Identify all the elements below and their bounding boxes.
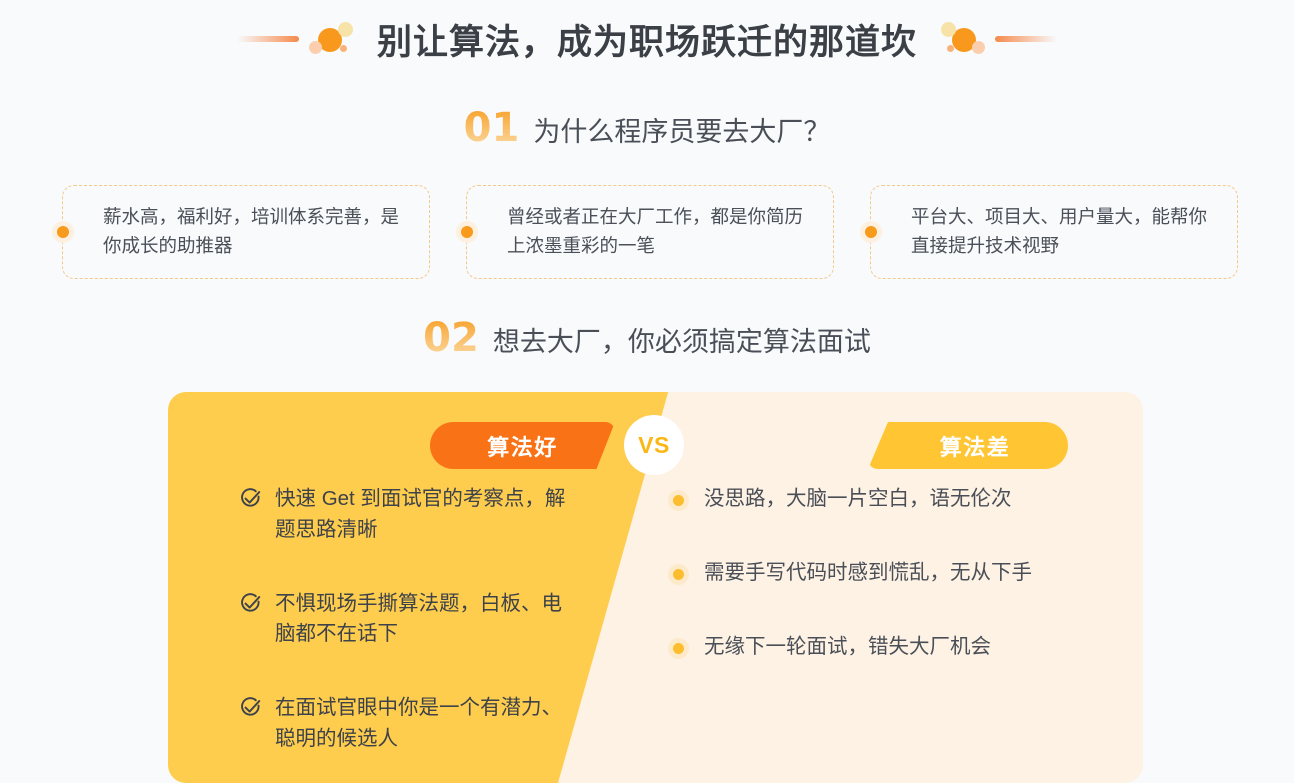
check-circle-icon — [240, 592, 262, 614]
check-circle-icon — [240, 696, 262, 718]
deco-dot-mini-icon — [340, 45, 347, 52]
good-item-text: 在面试官眼中你是一个有潜力、聪明的候选人 — [275, 693, 580, 755]
good-item: 不惧现场手撕算法题，白板、电脑都不在话下 — [240, 589, 580, 651]
reason-card-text: 平台大、项目大、用户量大，能帮你直接提升技术视野 — [911, 203, 1215, 260]
vs-badge: VS — [624, 415, 684, 475]
good-item: 快速 Get 到面试官的考察点，解题思路清晰 — [240, 484, 580, 546]
bullet-dot-icon — [461, 226, 473, 238]
title-decoration-right — [939, 19, 1057, 59]
page-root: 别让算法，成为职场跃迁的那道坎 01 为什么程序员要去大厂？ 薪水高，福利好，培… — [0, 0, 1294, 783]
section-number: 02 — [423, 318, 479, 358]
bad-item-text: 没思路，大脑一片空白，语无伦次 — [704, 484, 1012, 515]
reason-card: 平台大、项目大、用户量大，能帮你直接提升技术视野 — [870, 185, 1238, 279]
page-title: 别让算法，成为职场跃迁的那道坎 — [377, 14, 917, 65]
reason-card: 薪水高，福利好，培训体系完善，是你成长的助推器 — [62, 185, 430, 279]
good-item: 在面试官眼中你是一个有潜力、聪明的候选人 — [240, 693, 580, 755]
good-item-text: 不惧现场手撕算法题，白板、电脑都不在话下 — [275, 589, 580, 651]
deco-dot-pale-icon — [941, 22, 956, 37]
section-01-heading: 01 为什么程序员要去大厂？ — [0, 108, 1294, 149]
bullet-dot-icon — [865, 226, 877, 238]
bad-item-text: 需要手写代码时感到慌乱，无从下手 — [704, 558, 1032, 589]
bad-item: 需要手写代码时感到慌乱，无从下手 — [668, 558, 1068, 589]
section-02-heading: 02 想去大厂，你必须搞定算法面试 — [0, 318, 1294, 359]
deco-dot-peach-icon — [972, 41, 985, 54]
bullet-dot-icon — [673, 569, 684, 580]
comparison-panel: 算法好 VS 算法差 快速 Get 到面试官的考察点，解题思路清晰 不惧现场手撕… — [168, 392, 1143, 783]
deco-dots-icon — [939, 19, 985, 59]
section-title: 为什么程序员要去大厂？ — [533, 110, 830, 149]
good-item-list: 快速 Get 到面试官的考察点，解题思路清晰 不惧现场手撕算法题，白板、电脑都不… — [240, 484, 580, 755]
bullet-dot-icon — [57, 226, 69, 238]
bullet-dot-icon — [673, 643, 684, 654]
section-number: 01 — [464, 108, 520, 148]
bad-item: 没思路，大脑一片空白，语无伦次 — [668, 484, 1068, 515]
badge-bad: 算法差 — [868, 422, 1068, 469]
bad-item-text: 无缘下一轮面试，错失大厂机会 — [704, 632, 991, 663]
deco-dot-pale-icon — [338, 22, 353, 37]
reason-card-text: 曾经或者正在大厂工作，都是你简历上浓墨重彩的一笔 — [507, 203, 811, 260]
deco-dots-icon — [309, 19, 355, 59]
check-circle-icon — [240, 487, 262, 509]
deco-dot-peach-icon — [309, 41, 322, 54]
title-decoration-left — [237, 19, 355, 59]
good-item-text: 快速 Get 到面试官的考察点，解题思路清晰 — [275, 484, 580, 546]
reason-card-list: 薪水高，福利好，培训体系完善，是你成长的助推器 曾经或者正在大厂工作，都是你简历… — [62, 185, 1238, 279]
deco-line-icon — [995, 36, 1057, 42]
reason-card-text: 薪水高，福利好，培训体系完善，是你成长的助推器 — [103, 203, 407, 260]
deco-dot-mini-icon — [947, 45, 954, 52]
bullet-dot-icon — [673, 495, 684, 506]
bad-item-list: 没思路，大脑一片空白，语无伦次 需要手写代码时感到慌乱，无从下手 无缘下一轮面试… — [668, 484, 1068, 662]
badge-good: 算法好 — [430, 422, 615, 469]
deco-line-icon — [237, 36, 299, 42]
reason-card: 曾经或者正在大厂工作，都是你简历上浓墨重彩的一笔 — [466, 185, 834, 279]
section-title: 想去大厂，你必须搞定算法面试 — [493, 320, 871, 359]
page-title-row: 别让算法，成为职场跃迁的那道坎 — [0, 0, 1294, 78]
bad-item: 无缘下一轮面试，错失大厂机会 — [668, 632, 1068, 663]
